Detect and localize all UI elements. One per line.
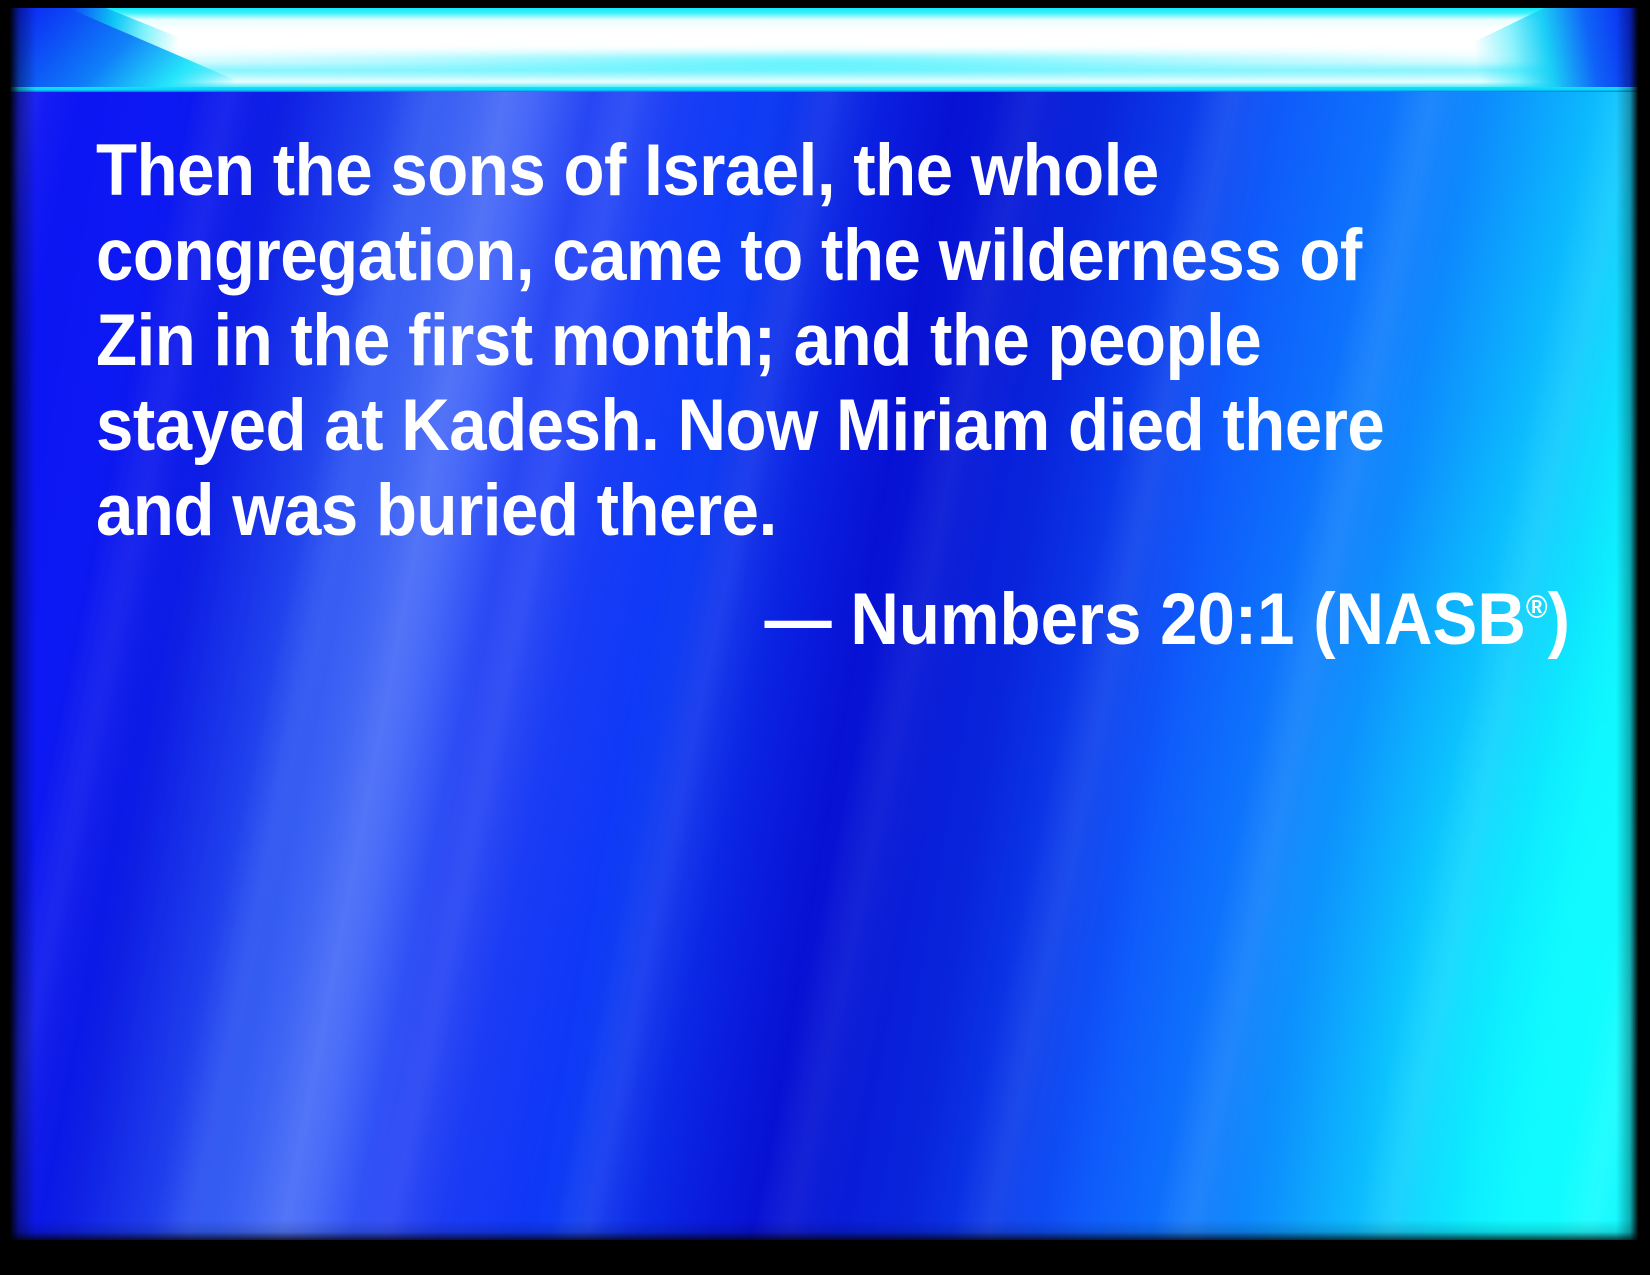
citation-book: Numbers (850, 579, 1141, 660)
citation-dash: — (764, 579, 831, 660)
verse-line-4: stayed at Kadesh. Now Miriam died there (96, 383, 1452, 468)
verse-citation: — Numbers 20:1 (NASB®) (214, 577, 1570, 662)
slide-canvas: Then the sons of Israel, the whole congr… (10, 8, 1638, 1240)
citation-reference: 20:1 (1160, 579, 1294, 660)
verse-line-5: and was buried there. (96, 468, 1452, 553)
band-shine (130, 52, 1488, 74)
citation-version-close: ) (1548, 579, 1570, 660)
registered-trademark-icon: ® (1526, 589, 1548, 625)
verse-line-2: congregation, came to the wilderness of (96, 213, 1452, 298)
verse-line-1: Then the sons of Israel, the whole (96, 128, 1452, 213)
verse-text-block: Then the sons of Israel, the whole congr… (96, 128, 1570, 662)
band-bottom-edge (10, 87, 1638, 92)
verse-slide: Then the sons of Israel, the whole congr… (0, 0, 1650, 1275)
citation-version-open: (NASB (1313, 579, 1526, 660)
verse-line-3: Zin in the first month; and the people (96, 298, 1452, 383)
header-glow-band (10, 8, 1638, 92)
